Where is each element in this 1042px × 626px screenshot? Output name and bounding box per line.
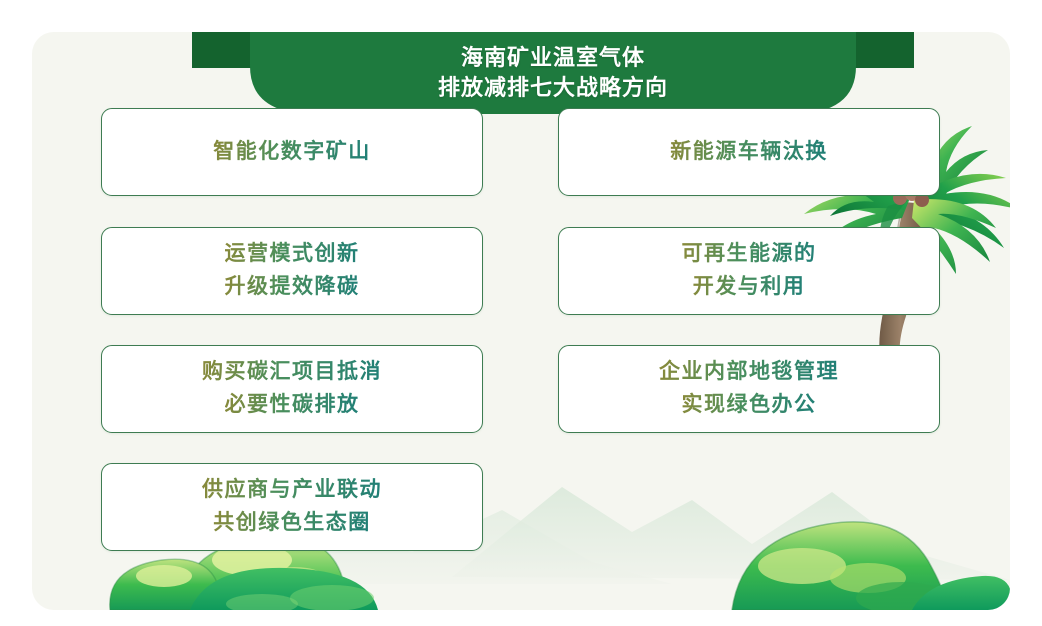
strategy-box-4-line-2: 开发与利用 <box>693 271 806 304</box>
strategy-box-3-line-2: 升级提效降碳 <box>225 271 360 304</box>
strategy-box-4[interactable]: 可再生能源的 开发与利用 <box>558 227 940 315</box>
strategy-box-7-line-2: 共创绿色生态圈 <box>213 507 371 540</box>
strategy-box-1-line-1: 智能化数字矿山 <box>213 136 371 169</box>
strategy-box-5-line-1: 购买碳汇项目抵消 <box>202 356 382 389</box>
strategy-box-6-line-1: 企业内部地毯管理 <box>659 356 839 389</box>
strategy-box-4-line-1: 可再生能源的 <box>682 238 817 271</box>
strategy-box-7[interactable]: 供应商与产业联动 共创绿色生态圈 <box>101 463 483 551</box>
banner-title-line-1: 海南矿业温室气体 <box>461 44 645 72</box>
banner-title-line-2: 排放减排七大战略方向 <box>438 74 668 102</box>
strategy-box-3-line-1: 运营模式创新 <box>225 238 360 271</box>
banner-title: 海南矿业温室气体 排放减排七大战略方向 <box>192 32 914 114</box>
strategy-box-5[interactable]: 购买碳汇项目抵消 必要性碳排放 <box>101 345 483 433</box>
strategy-box-7-line-1: 供应商与产业联动 <box>202 474 382 507</box>
infographic-card: 海南矿业温室气体 排放减排七大战略方向 智能化数字矿山 新能源车辆汰换 运营模式… <box>32 32 1010 610</box>
strategy-box-6[interactable]: 企业内部地毯管理 实现绿色办公 <box>558 345 940 433</box>
strategy-box-2[interactable]: 新能源车辆汰换 <box>558 108 940 196</box>
strategy-box-6-line-2: 实现绿色办公 <box>682 389 817 422</box>
strategy-box-3[interactable]: 运营模式创新 升级提效降碳 <box>101 227 483 315</box>
strategy-box-5-line-2: 必要性碳排放 <box>225 389 360 422</box>
strategy-box-2-line-1: 新能源车辆汰换 <box>670 136 828 169</box>
strategy-box-1[interactable]: 智能化数字矿山 <box>101 108 483 196</box>
